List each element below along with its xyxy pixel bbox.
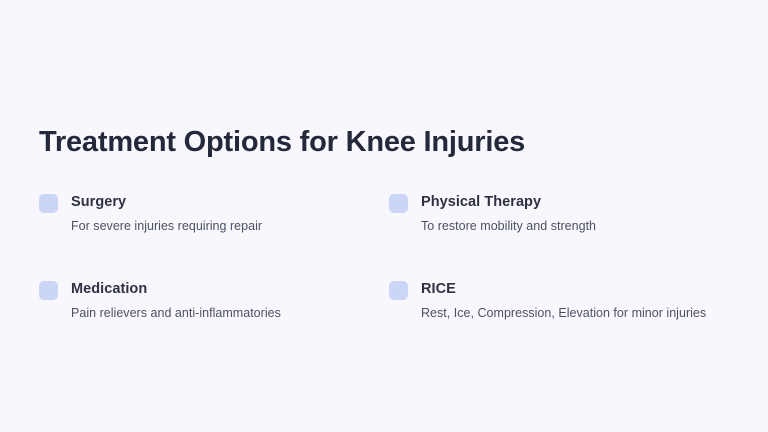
list-item-description: Pain relievers and anti-inflammatories xyxy=(71,305,281,322)
rounded-square-bullet-icon xyxy=(389,194,408,213)
list-item-heading: Medication xyxy=(71,279,281,299)
rounded-square-bullet-icon xyxy=(389,281,408,300)
list-item-physical-therapy[interactable]: Physical Therapy To restore mobility and… xyxy=(389,192,729,235)
list-item-description: Rest, Ice, Compression, Elevation for mi… xyxy=(421,305,706,322)
list-item-heading: Surgery xyxy=(71,192,262,212)
list-item-heading: RICE xyxy=(421,279,706,299)
treatment-options-list: Surgery For severe injuries requiring re… xyxy=(39,192,729,322)
rounded-square-bullet-icon xyxy=(39,194,58,213)
slide-canvas: Treatment Options for Knee Injuries Surg… xyxy=(0,0,768,432)
list-item-body: RICE Rest, Ice, Compression, Elevation f… xyxy=(421,279,706,322)
list-item-heading: Physical Therapy xyxy=(421,192,596,212)
list-item-description: For severe injuries requiring repair xyxy=(71,218,262,235)
list-item-body: Surgery For severe injuries requiring re… xyxy=(71,192,262,235)
list-item-body: Medication Pain relievers and anti-infla… xyxy=(71,279,281,322)
list-item-body: Physical Therapy To restore mobility and… xyxy=(421,192,596,235)
rounded-square-bullet-icon xyxy=(39,281,58,300)
list-item-medication[interactable]: Medication Pain relievers and anti-infla… xyxy=(39,279,389,322)
list-item-description: To restore mobility and strength xyxy=(421,218,596,235)
page-title: Treatment Options for Knee Injuries xyxy=(39,122,525,162)
list-item-rice[interactable]: RICE Rest, Ice, Compression, Elevation f… xyxy=(389,279,729,322)
list-item-surgery[interactable]: Surgery For severe injuries requiring re… xyxy=(39,192,389,235)
